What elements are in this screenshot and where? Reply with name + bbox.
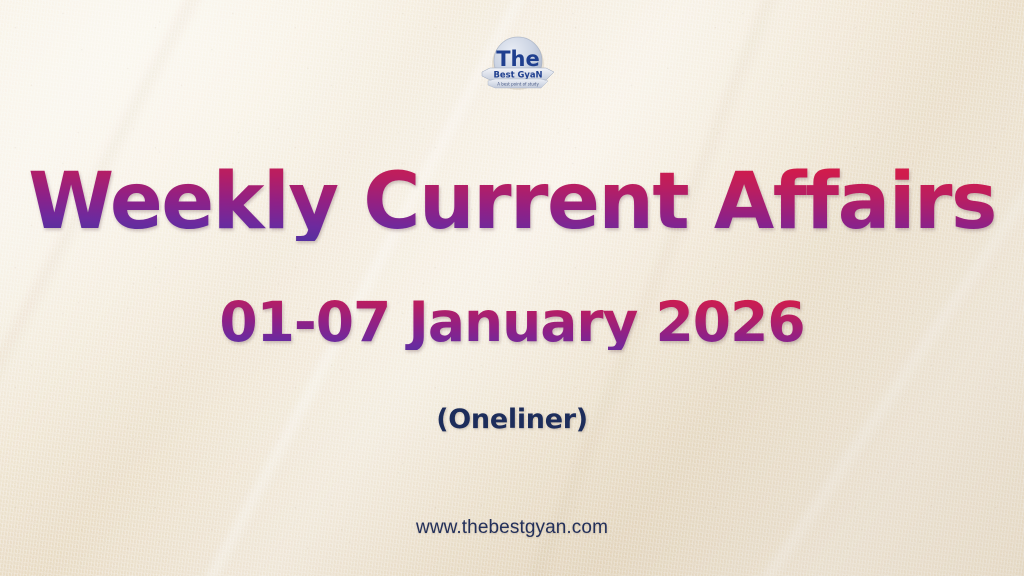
- subtitle-label: (Oneliner): [0, 404, 1024, 435]
- website-url: www.thebestgyan.com: [0, 517, 1024, 539]
- svg-text:The: The: [496, 47, 540, 71]
- date-range-heading: 01-07 January 2026: [0, 295, 1024, 350]
- the-best-gyan-logo: The Best GyaN A best point of study: [476, 28, 560, 98]
- svg-text:Best GyaN: Best GyaN: [494, 69, 543, 79]
- svg-text:A best point of study: A best point of study: [497, 82, 539, 87]
- slide-content: The Best GyaN A best point of study Week…: [0, 0, 1024, 576]
- slide-canvas: The Best GyaN A best point of study Week…: [0, 0, 1024, 576]
- page-title: Weekly Current Affairs: [0, 163, 1024, 241]
